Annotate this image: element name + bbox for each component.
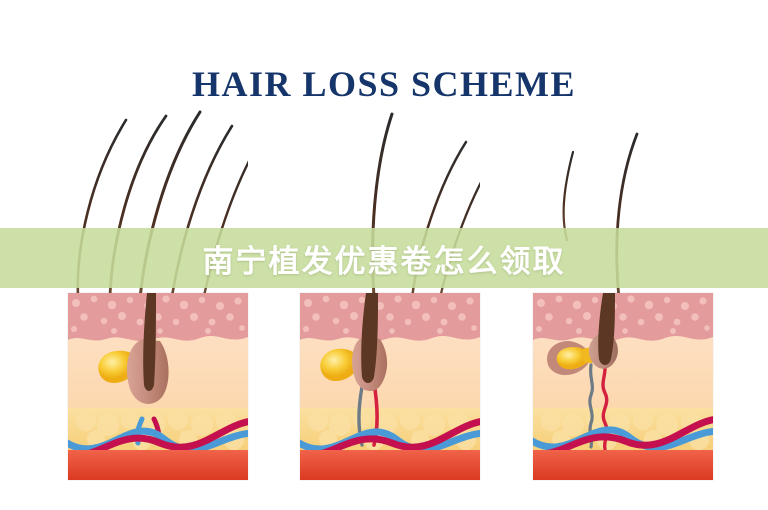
illustration-canvas: HAIR LOSS SCHEME (0, 0, 768, 510)
skin-panel-stage-1 (68, 293, 248, 480)
skin-panel-stage-2 (300, 293, 480, 480)
skin-cross-section-stage-3 (533, 293, 713, 480)
promo-banner-text: 南宁植发优惠卷怎么领取 (0, 228, 768, 288)
skin-cross-section-stage-1 (68, 293, 248, 480)
page-title: HAIR LOSS SCHEME (0, 63, 768, 105)
skin-panel-stage-3 (533, 293, 713, 480)
skin-cross-section-stage-2 (300, 293, 480, 480)
